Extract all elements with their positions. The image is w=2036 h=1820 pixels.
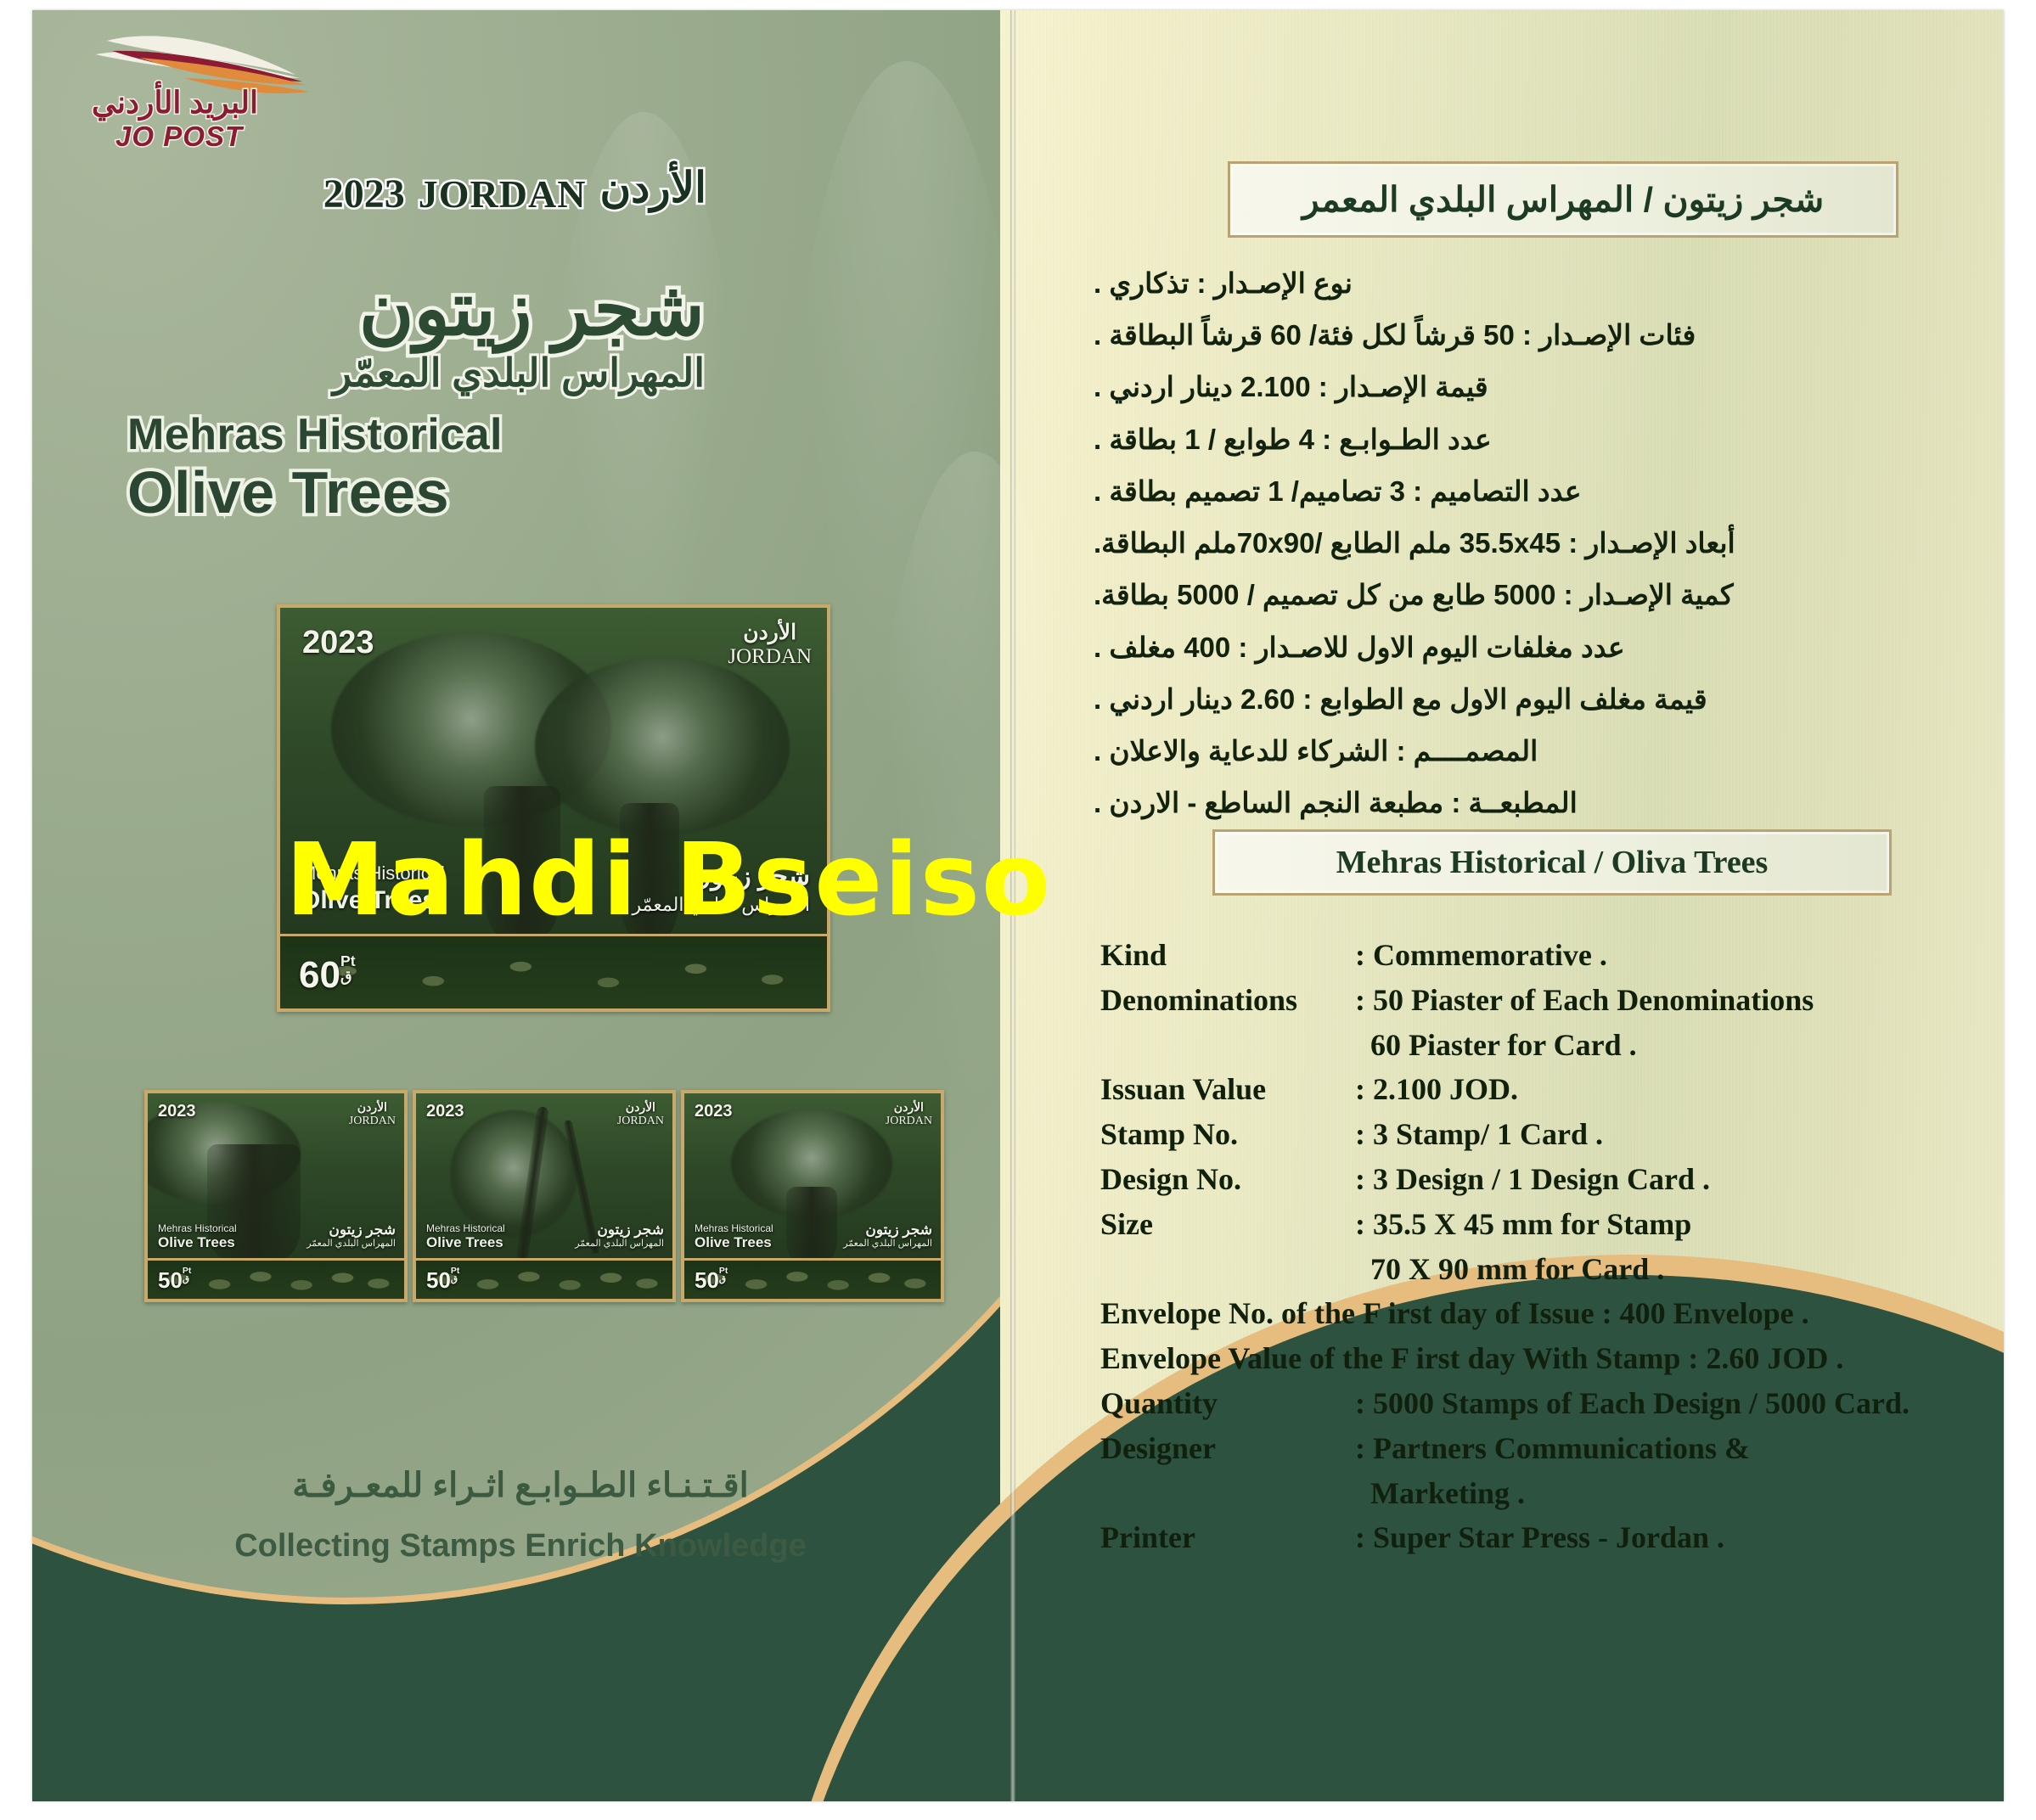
spec-key: Envelope No. of the F irst day of Issue … [1100,1294,1809,1334]
spec-key: Quantity [1100,1384,1355,1424]
english-spec-title-box: Mehras Historical / Oliva Trees [1212,829,1892,896]
small-stamp-denomination: 50Ptق [426,1267,459,1294]
arabic-spec-text: المصمــــم : الشركاء للدعاية والاعلان . [1094,733,1538,770]
small-caption-ar-1: شجر زيتون [843,1221,932,1239]
small-denom-value: 50 [426,1267,451,1293]
small-caption-en-2: Olive Trees [158,1234,237,1251]
brochure-page: البريد الأردني JO POST 2023 JORDAN الأرد… [0,0,2036,1820]
small-denom-value: 50 [695,1267,719,1293]
logo-arabic-text: البريد الأردني [92,85,258,121]
small-denom-unit-ar: ق [719,1275,726,1284]
main-stamp-olive-strip [280,934,827,1008]
spec-value: : Commemorative . [1355,935,1607,975]
spec-key: Denominations [1100,980,1355,1020]
cover-title-english-main: Olive Trees [127,458,449,526]
spec-value: : 2.100 JOD. [1355,1070,1518,1109]
arabic-spec-row: عدد الطـوابـع : 4 طوابع / 1 بطاقة . [1094,421,1900,458]
small-stamp-caption-en: Mehras Historical Olive Trees [695,1222,773,1252]
small-stamp-year: 2023 [158,1102,196,1121]
spec-value: : 3 Stamp/ 1 Card . [1355,1115,1603,1154]
small-stamp-caption-ar: شجر زيتون المهراس البلدي المعمّر [843,1221,932,1250]
spec-key: Kind [1100,935,1355,975]
spec-value: : Super Star Press - Jordan . [1355,1518,1724,1558]
small-stamp-caption-en: Mehras Historical Olive Trees [426,1222,505,1252]
cover-country-ar: الأردن [599,163,706,212]
small-stamp-caption-ar: شجر زيتون المهراس البلدي المعمّر [575,1221,664,1250]
olive-trunk [786,1187,837,1263]
small-stamp-country-en: JORDAN [617,1115,664,1128]
spec-key: Designer [1100,1429,1355,1469]
arabic-spec-row: قيمة الإصـدار : 2.100 دينار اردني . [1094,368,1900,406]
small-stamp-year: 2023 [426,1102,464,1121]
olive-branch-pattern [280,936,827,1008]
cover-year: 2023 [323,171,405,217]
main-stamp-country-en: JORDAN [728,645,812,669]
slogan-arabic: اقـتـنـاء الطـوابـع اثـراء للمعـرفـة [32,1466,1009,1505]
arabic-spec-text: قيمة مغلف اليوم الاول مع الطوابع : 2.60 … [1094,681,1707,718]
small-stamp-country-ar: الأردن [349,1100,396,1115]
arabic-spec-row: المطبعــة : مطبعة النجم الساطع - الاردن … [1094,784,1900,822]
main-stamp-year: 2023 [302,625,374,661]
small-denom-unit-ar: ق [451,1275,458,1284]
spec-key: Printer [1100,1518,1355,1558]
spec-key: Design No. [1100,1160,1355,1199]
spec-key: Envelope Value of the F irst day With St… [1100,1339,1843,1379]
small-caption-en-1: Mehras Historical [695,1222,773,1234]
cover-country-en: JORDAN [419,171,587,216]
small-stamp-caption-en: Mehras Historical Olive Trees [158,1222,237,1252]
small-caption-ar-1: شجر زيتون [307,1221,396,1239]
arabic-spec-text: أبعاد الإصـدار : 35.5x45 ملم الطابع /70x… [1094,525,1735,562]
small-caption-en-1: Mehras Historical [426,1222,505,1234]
main-stamp[interactable]: 2023 الأردن JORDAN Mehras Historical Oli… [277,604,830,1012]
arabic-spec-title-box: شجر زيتون / المهراس البلدي المعمر [1228,161,1898,238]
small-stamp-country-ar: الأردن [617,1100,664,1115]
main-denom-unit-ar: ق [340,968,352,985]
arabic-spec-text: عدد الطـوابـع : 4 طوابع / 1 بطاقة . [1094,421,1492,458]
arabic-spec-text: كمية الإصـدار : 5000 طابع من كل تصميم / … [1094,576,1734,614]
english-spec-row: Issuan Value: 2.100 JOD. [1100,1070,1949,1109]
arabic-spec-row: نوع الإصـدار : تذكاري . [1094,265,1900,302]
arabic-spec-text: عدد مغلفات اليوم الاول للاصـدار : 400 مغ… [1094,629,1625,666]
small-stamp-caption-ar: شجر زيتون المهراس البلدي المعمّر [307,1221,396,1250]
small-stamp-denomination: 50Ptق [158,1267,191,1294]
main-stamp-country-ar: الأردن [728,620,812,645]
english-spec-list: Kind: Commemorative . Denominations: 50 … [1100,935,1949,1563]
cover-country-line: 2023 JORDAN الأردن [323,163,706,224]
english-spec-row: Quantity: 5000 Stamps of Each Design / 5… [1100,1384,1949,1424]
arabic-spec-row: أبعاد الإصـدار : 35.5x45 ملم الطابع /70x… [1094,525,1900,562]
small-caption-ar-1: شجر زيتون [575,1221,664,1239]
english-spec-row: Kind: Commemorative . [1100,935,1949,975]
small-stamp-country: الأردن JORDAN [617,1100,664,1128]
olive-branch-cluster [450,1110,577,1238]
english-spec-row: Design No.: 3 Design / 1 Design Card . [1100,1160,1949,1199]
small-caption-en-1: Mehras Historical [158,1222,237,1234]
jo-post-logo: البريد الأردني JO POST [58,25,321,153]
small-stamp-country: الأردن JORDAN [349,1100,396,1128]
arabic-spec-text: فئات الإصـدار : 50 قرشاً لكل فئة/ 60 قرش… [1094,317,1696,354]
small-denom-unit-ar: ق [183,1275,189,1284]
main-denom-value: 60 [299,954,340,996]
english-spec-row-cont: Marketing . [1100,1474,1949,1514]
english-spec-row: Denominations: 50 Piaster of Each Denomi… [1100,980,1949,1020]
english-spec-row-cont: 70 X 90 mm for Card . [1100,1250,1949,1289]
english-spec-title: Mehras Historical / Oliva Trees [1215,832,1889,893]
small-denom-value: 50 [158,1267,183,1293]
arabic-spec-text: عدد التصاميم : 3 تصاميم/ 1 تصميم بطاقة . [1094,473,1582,510]
spec-value: : 5000 Stamps of Each Design / 5000 Card… [1355,1384,1909,1424]
logo-english-text: JO POST [115,121,243,153]
small-stamp-2[interactable]: 2023 الأردن JORDAN Mehras Historical Oli… [413,1090,676,1302]
english-spec-row-cont: 60 Piaster for Card . [1100,1025,1949,1065]
english-spec-row: Stamp No.: 3 Stamp/ 1 Card . [1100,1115,1949,1154]
english-spec-row: Size: 35.5 X 45 mm for Stamp [1100,1205,1949,1244]
arabic-spec-text: قيمة الإصـدار : 2.100 دينار اردني . [1094,368,1488,406]
small-stamp-country-en: JORDAN [886,1115,932,1128]
small-stamp-denomination: 50Ptق [695,1267,728,1294]
spec-value: : 35.5 X 45 mm for Stamp [1355,1205,1691,1244]
arabic-spec-row: فئات الإصـدار : 50 قرشاً لكل فئة/ 60 قرش… [1094,317,1900,354]
small-stamp-1[interactable]: 2023 الأردن JORDAN Mehras Historical Oli… [144,1090,408,1302]
spec-value: : 3 Design / 1 Design Card . [1355,1160,1710,1199]
small-caption-ar-2: المهراس البلدي المعمّر [307,1239,396,1250]
main-stamp-denomination: 60Ptق [299,954,356,997]
small-stamp-3[interactable]: 2023 الأردن JORDAN Mehras Historical Oli… [681,1090,944,1302]
main-stamp-country: الأردن JORDAN [728,620,812,669]
arabic-spec-row: عدد مغلفات اليوم الاول للاصـدار : 400 مغ… [1094,629,1900,666]
arabic-spec-row: قيمة مغلف اليوم الاول مع الطوابع : 2.60 … [1094,681,1900,718]
small-stamp-country: الأردن JORDAN [886,1100,932,1128]
english-spec-row: Envelope No. of the F irst day of Issue … [1100,1294,1949,1334]
arabic-spec-row: المصمــــم : الشركاء للدعاية والاعلان . [1094,733,1900,770]
arabic-spec-title: شجر زيتون / المهراس البلدي المعمر [1230,164,1896,235]
spec-value: : Partners Communications & [1355,1429,1750,1469]
spec-key: Issuan Value [1100,1070,1355,1109]
small-caption-ar-2: المهراس البلدي المعمّر [575,1239,664,1250]
arabic-spec-row: كمية الإصـدار : 5000 طابع من كل تصميم / … [1094,576,1900,614]
english-spec-row: Envelope Value of the F irst day With St… [1100,1339,1949,1379]
arabic-spec-text: المطبعــة : مطبعة النجم الساطع - الاردن … [1094,784,1578,822]
arabic-spec-list: نوع الإصـدار : تذكاري . فئات الإصـدار : … [1094,265,1900,836]
cover-title-english-sub: Mehras Historical [127,409,503,460]
cover-title-arabic-sub: المهراس البلدي المعمّر [333,350,705,396]
english-spec-row: Printer: Super Star Press - Jordan . [1100,1518,1949,1558]
small-stamp-country-ar: الأردن [886,1100,932,1115]
slogan-english: Collecting Stamps Enrich Knowledge [32,1528,1009,1564]
small-caption-en-2: Olive Trees [426,1234,505,1251]
small-stamp-country-en: JORDAN [349,1115,396,1128]
spec-key: Stamp No. [1100,1115,1355,1154]
arabic-spec-text: نوع الإصـدار : تذكاري . [1094,265,1353,302]
spec-key: Size [1100,1205,1355,1244]
watermark-text: Mahdi Bseiso [285,821,1052,938]
small-caption-en-2: Olive Trees [695,1234,773,1251]
cover-title-arabic-main: شجر زيتون [359,265,705,352]
english-spec-row: Designer: Partners Communications & [1100,1429,1949,1469]
small-stamp-year: 2023 [695,1102,733,1121]
small-caption-ar-2: المهراس البلدي المعمّر [843,1239,932,1250]
arabic-spec-row: عدد التصاميم : 3 تصاميم/ 1 تصميم بطاقة . [1094,473,1900,510]
spec-value: : 50 Piaster of Each Denominations [1355,980,1814,1020]
brochure-sheet: البريد الأردني JO POST 2023 JORDAN الأرد… [32,10,2004,1801]
